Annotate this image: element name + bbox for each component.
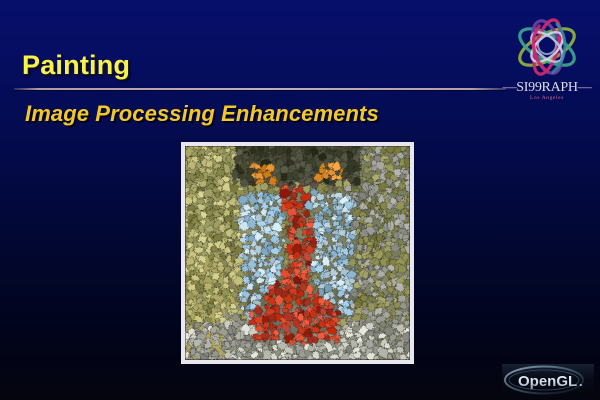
opengl-wordmark: OpenGL [518,373,577,390]
siggraph-city-label: Los Angeles [497,95,597,101]
mosaic-tiles-artwork [185,146,410,360]
siggraph-logo: —SI99RAPH— Los Angeles [497,14,597,104]
siggraph-rings-icon [503,14,591,80]
siggraph-wordmark-text: SI99RAPH [516,80,577,95]
image-frame [181,142,414,364]
title-divider-rule [14,88,506,90]
page-title: Painting [22,50,130,81]
mosaic-mandrill-image [185,146,410,360]
siggraph-wordmark: —SI99RAPH— [497,80,597,96]
opengl-logo: OpenGL . [502,364,594,396]
opengl-logo-icon: OpenGL . [502,364,594,396]
siggraph-dash-right: — [578,80,592,95]
slide-subtitle: Image Processing Enhancements [25,101,379,127]
presentation-slide: Painting Image Processing Enhancements [0,0,600,400]
opengl-trailing-dot: . [579,374,583,389]
siggraph-dash-left: — [503,80,517,95]
